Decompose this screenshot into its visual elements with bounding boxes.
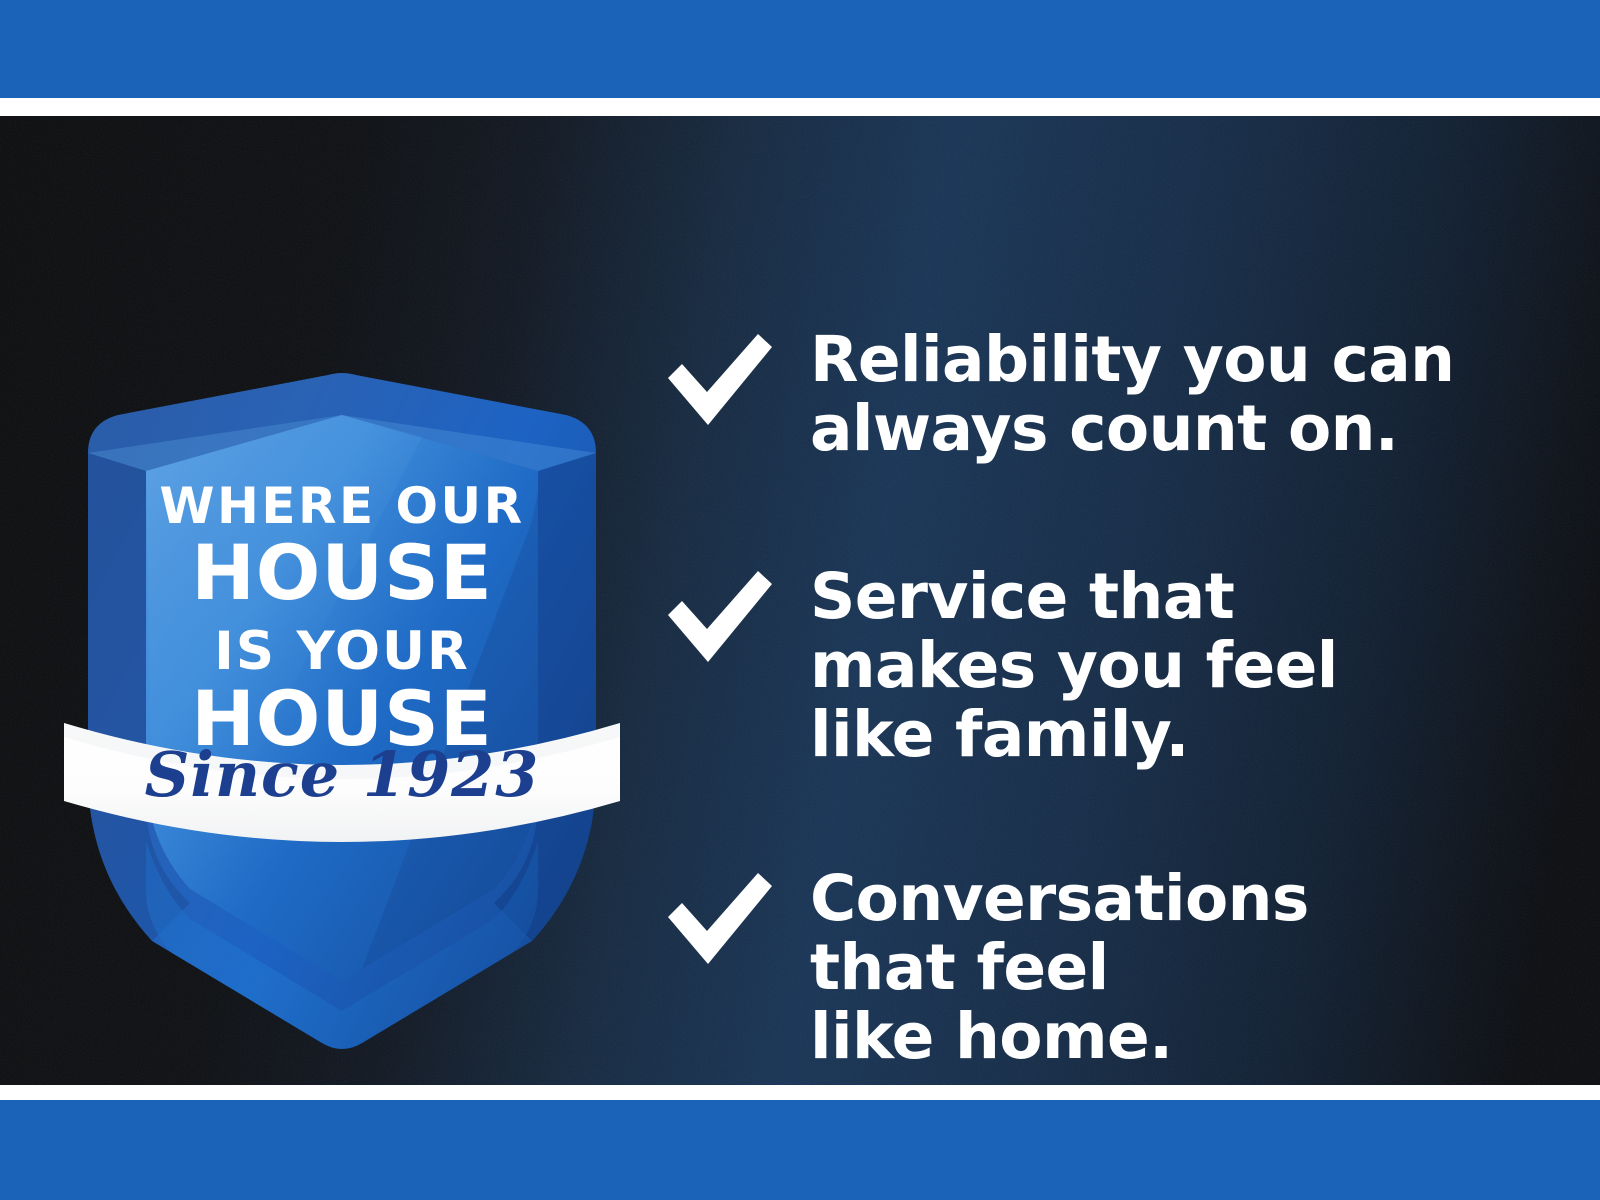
ribbon-text: Since 1923 — [145, 738, 540, 811]
benefit-item-3: Conversations that feel like home. — [660, 865, 1540, 1071]
benefit-text-1: Reliability you can always count on. — [810, 326, 1454, 463]
check-icon — [660, 865, 810, 977]
emblem-line-1: WHERE OUR — [159, 477, 524, 535]
benefit-item-1: Reliability you can always count on. — [660, 326, 1540, 463]
emblem-line-3: IS YOUR — [214, 621, 470, 682]
check-icon — [660, 326, 810, 438]
promo-banner: WHERE OUR HOUSE IS YOUR HOUSE Since 1923 — [0, 0, 1600, 1200]
emblem-line-2: HOUSE — [191, 528, 493, 617]
check-icon — [660, 563, 810, 675]
benefit-text-3: Conversations that feel like home. — [810, 865, 1309, 1071]
bottom-white-divider — [0, 1085, 1600, 1100]
bottom-brand-bar — [0, 1100, 1600, 1200]
banner-stage: WHERE OUR HOUSE IS YOUR HOUSE Since 1923 — [0, 116, 1600, 1085]
shield-emblem: WHERE OUR HOUSE IS YOUR HOUSE Since 1923 — [62, 371, 622, 1061]
top-brand-bar — [0, 0, 1600, 98]
benefit-item-2: Service that makes you feel like family. — [660, 563, 1540, 769]
benefits-list: Reliability you can always count on. Ser… — [660, 266, 1540, 1071]
top-white-divider — [0, 98, 1600, 116]
benefit-text-2: Service that makes you feel like family. — [810, 563, 1338, 769]
